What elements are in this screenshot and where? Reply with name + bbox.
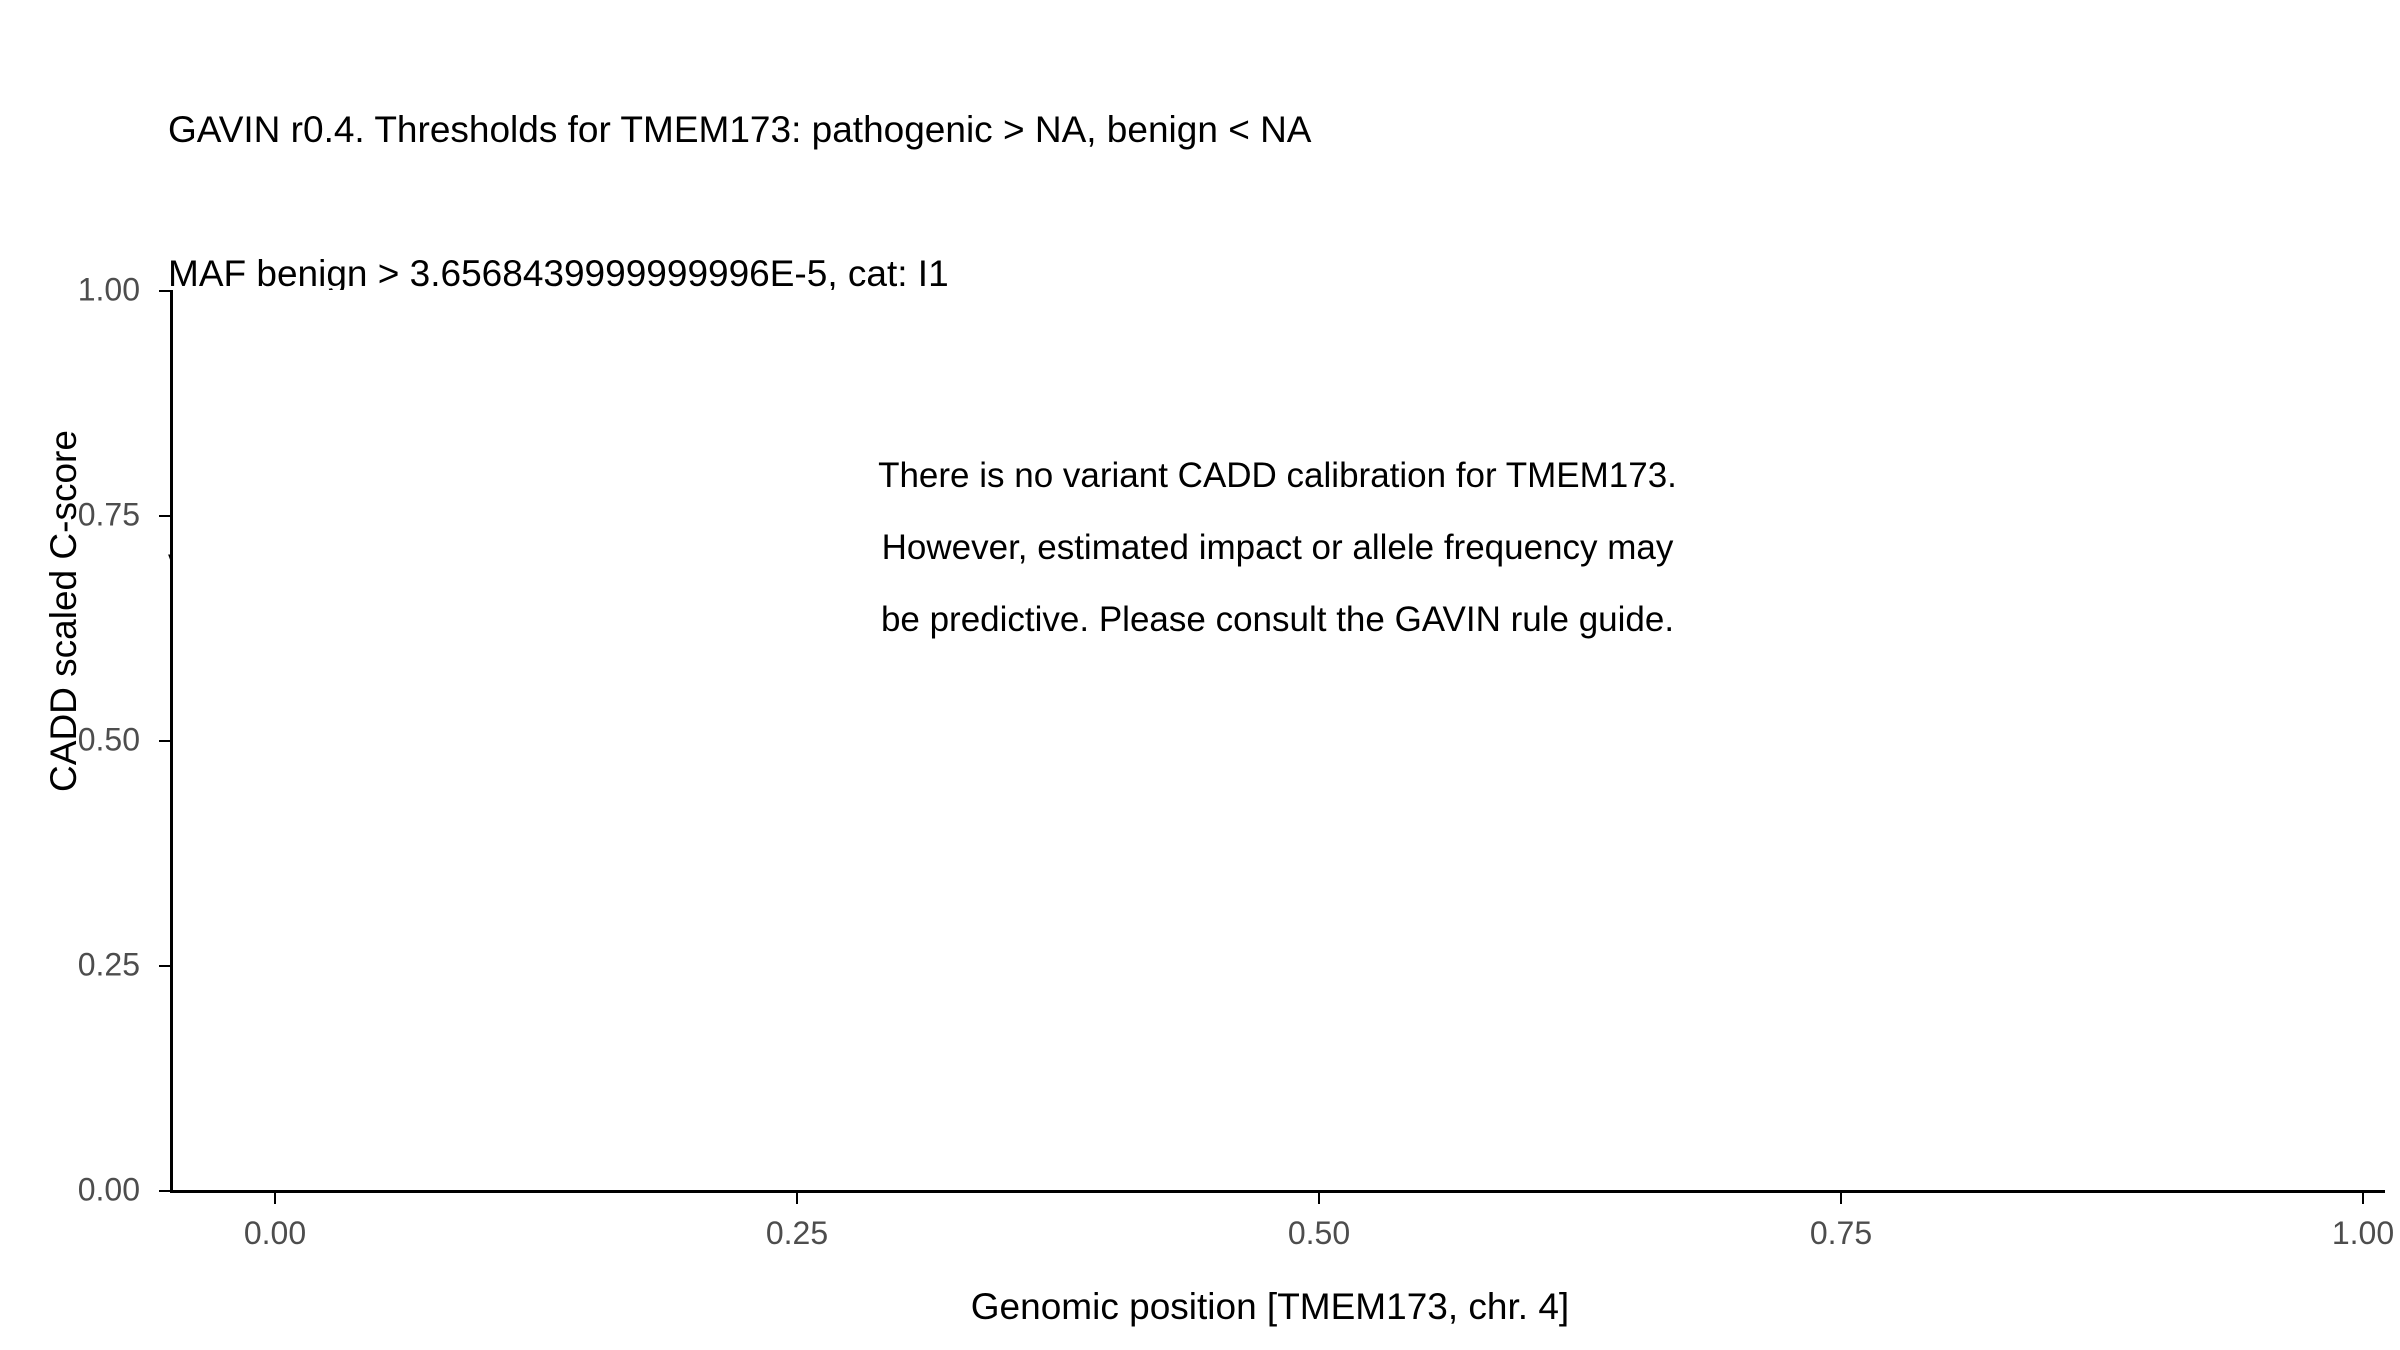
y-tick-mark-1: 0.25 [159,965,170,967]
x-axis-line [170,1190,2385,1193]
y-tick-label-3: 0.75 [78,497,140,534]
y-axis-title: CADD scaled C-score [43,301,85,921]
x-tick-mark-0 [274,1193,276,1204]
y-tick-mark-0: 0.00 [159,1190,170,1192]
y-tick-mark-2: 0.50 [159,740,170,742]
x-tick-label-0: 0.00 [244,1215,306,1252]
y-tick-mark-4: 1.00 [159,290,170,292]
x-tick-mark-2 [1318,1193,1320,1204]
x-tick-mark-4 [2362,1193,2364,1204]
x-tick-mark-3 [1840,1193,1842,1204]
y-tick-label-2: 0.50 [78,722,140,759]
panel-background [170,290,2385,1190]
plot-title-line-1: GAVIN r0.4. Thresholds for TMEM173: path… [168,106,2348,154]
y-tick-mark-3: 0.75 [159,515,170,517]
x-tick-mark-1 [796,1193,798,1204]
plot-root: GAVIN r0.4. Thresholds for TMEM173: path… [0,0,2400,1350]
x-axis-title: Genomic position [TMEM173, chr. 4] [170,1286,2370,1328]
y-tick-label-4: 1.00 [78,272,140,309]
x-tick-label-3: 0.75 [1810,1215,1872,1252]
plot-panel: 0.00 0.25 0.50 0.75 1.00 0.00 0.25 0.50 … [170,290,2385,1190]
y-tick-label-0: 0.00 [78,1172,140,1209]
y-axis-line [170,290,173,1193]
x-tick-label-4: 1.00 [2332,1215,2394,1252]
x-tick-label-2: 0.50 [1288,1215,1350,1252]
y-tick-label-1: 0.25 [78,947,140,984]
x-tick-label-1: 0.25 [766,1215,828,1252]
